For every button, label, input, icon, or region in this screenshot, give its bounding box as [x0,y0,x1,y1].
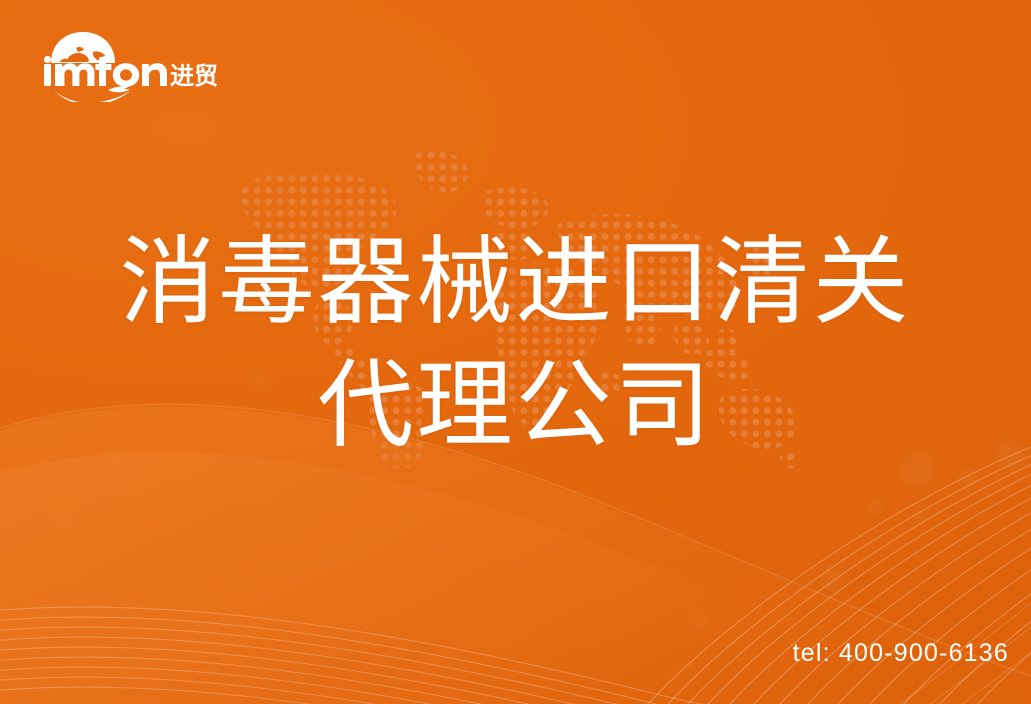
contact-phone[interactable]: tel: 400-900-6136 [793,639,1009,668]
headline-line-2: 代理公司 [0,345,1031,468]
swoosh-icon [54,86,130,102]
brand-logo[interactable]: 进贸通 R [38,28,218,102]
logo-wordmark-chinese: 进贸通 [170,62,218,90]
headline-line-1: 消毒器械进口清关 [0,222,1031,345]
page-title: 消毒器械进口清关 代理公司 [0,222,1031,468]
promo-banner: 进贸通 R 消毒器械进口清关 代理公司 tel: 400-900-6136 [0,0,1031,704]
